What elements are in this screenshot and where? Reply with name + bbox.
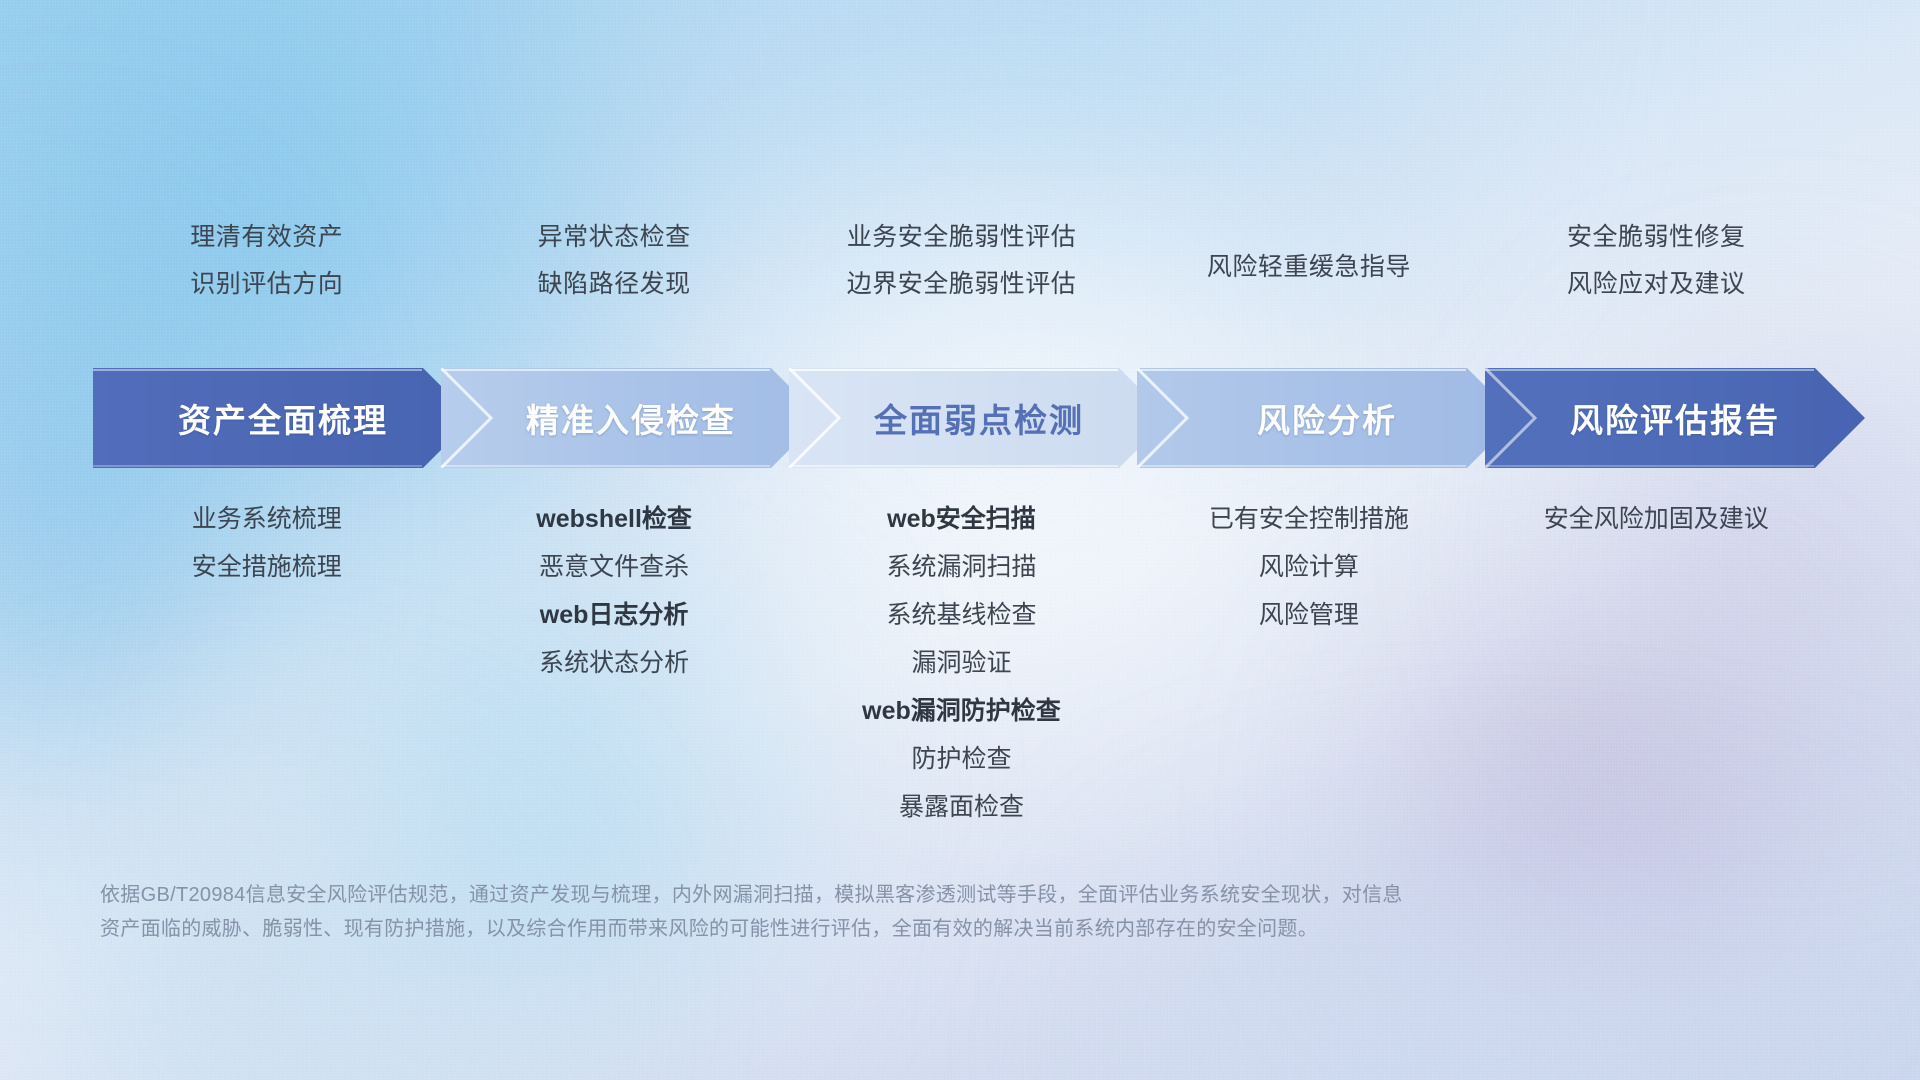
list-item: web日志分析 [540,591,689,639]
stage-label: 全面弱点检测 [874,394,1084,442]
items-weakness-detection: web安全扫描 系统漏洞扫描 系统基线检查 漏洞验证 web漏洞防护检查 防护检… [788,495,1135,831]
list-item: 防护检查 [911,735,1011,783]
process-chevron-band: 资产全面梳理 精准入侵检查 [93,368,1830,468]
items-assessment-report: 安全风险加固及建议 [1483,495,1830,831]
stage-label: 风险分析 [1257,394,1397,442]
top-note: 安全脆弱性修复 [1483,225,1830,250]
detail-items-row: 业务系统梳理 安全措施梳理 webshell检查 恶意文件查杀 web日志分析 … [93,495,1830,831]
stage-chevron-assessment-report[interactable]: 风险评估报告 [1485,368,1865,468]
list-item: 漏洞验证 [911,639,1011,687]
stage-chevron-asset-inventory[interactable]: 资产全面梳理 [93,368,473,468]
top-notes-intrusion-check: 异常状态检查 缺陷路径发现 [440,225,787,340]
list-item: web漏洞防护检查 [862,687,1061,735]
top-notes-asset-inventory: 理清有效资产 识别评估方向 [93,225,440,340]
top-note: 理清有效资产 [93,225,440,250]
list-item: webshell检查 [536,495,692,543]
footer-line-1: 依据GB/T20984信息安全风险评估规范，通过资产发现与梳理，内外网漏洞扫描，… [100,878,1660,912]
list-item: 安全风险加固及建议 [1544,495,1769,543]
list-item: 系统漏洞扫描 [886,543,1036,591]
stage-label: 风险评估报告 [1570,394,1780,442]
list-item: 暴露面检查 [899,783,1024,831]
list-item: 安全措施梳理 [192,543,342,591]
items-risk-analysis: 已有安全控制措施 风险计算 风险管理 [1135,495,1482,831]
footer-line-2: 资产面临的威胁、脆弱性、现有防护措施，以及综合作用而带来风险的可能性进行评估，全… [100,912,1660,946]
list-item: 风险管理 [1259,591,1359,639]
top-note: 异常状态检查 [440,225,787,250]
top-notes-risk-analysis: 风险轻重缓急指导 [1135,225,1482,340]
process-infographic: 理清有效资产 识别评估方向 异常状态检查 缺陷路径发现 业务安全脆弱性评估 边界… [0,0,1920,1080]
list-item: 业务系统梳理 [192,495,342,543]
top-note: 缺陷路径发现 [440,272,787,297]
items-intrusion-check: webshell检查 恶意文件查杀 web日志分析 系统状态分析 [440,495,787,831]
list-item: 系统状态分析 [539,639,689,687]
top-note: 边界安全脆弱性评估 [788,272,1135,297]
footer-description: 依据GB/T20984信息安全风险评估规范，通过资产发现与梳理，内外网漏洞扫描，… [100,878,1660,946]
stage-chevron-weakness-detection[interactable]: 全面弱点检测 [789,368,1169,468]
list-item: 风险计算 [1259,543,1359,591]
top-note: 风险应对及建议 [1483,272,1830,297]
top-notes-weakness-detection: 业务安全脆弱性评估 边界安全脆弱性评估 [788,225,1135,340]
top-notes-assessment-report: 安全脆弱性修复 风险应对及建议 [1483,225,1830,340]
top-note: 风险轻重缓急指导 [1135,255,1482,280]
top-notes-row: 理清有效资产 识别评估方向 异常状态检查 缺陷路径发现 业务安全脆弱性评估 边界… [93,225,1830,340]
top-note: 业务安全脆弱性评估 [788,225,1135,250]
list-item: 恶意文件查杀 [539,543,689,591]
list-item: 已有安全控制措施 [1209,495,1409,543]
stage-label: 精准入侵检查 [526,394,736,442]
stage-chevron-risk-analysis[interactable]: 风险分析 [1137,368,1517,468]
list-item: 系统基线检查 [886,591,1036,639]
stage-label: 资产全面梳理 [178,394,388,442]
items-asset-inventory: 业务系统梳理 安全措施梳理 [93,495,440,831]
top-note: 识别评估方向 [93,272,440,297]
list-item: web安全扫描 [887,495,1036,543]
stage-chevron-intrusion-check[interactable]: 精准入侵检查 [441,368,821,468]
